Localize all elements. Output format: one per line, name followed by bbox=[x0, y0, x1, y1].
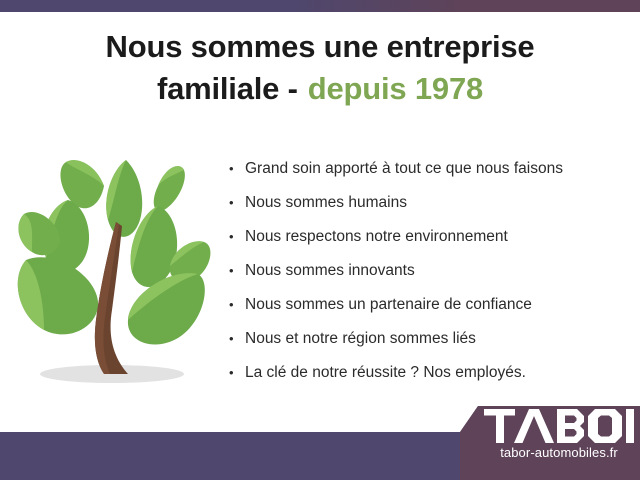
page-title-line-1: Nous sommes une entreprise bbox=[0, 26, 640, 68]
logo-website-url: tabor-automobiles.fr bbox=[484, 445, 634, 460]
list-item: Nous et notre région sommes liés bbox=[228, 322, 628, 356]
page-title-line-2-black: familiale - bbox=[157, 71, 298, 106]
top-accent-bar bbox=[0, 0, 640, 12]
logo-wordmark-tabor bbox=[484, 408, 634, 444]
list-item: La clé de notre réussite ? Nos employés. bbox=[228, 356, 628, 390]
tree-illustration bbox=[8, 148, 223, 392]
list-item: Nous respectons notre environnement bbox=[228, 220, 628, 254]
page-title-highlight: depuis 1978 bbox=[308, 71, 483, 106]
footer-left-band bbox=[0, 406, 478, 480]
page-title-line-2: familiale -depuis 1978 bbox=[0, 68, 640, 110]
page-title: Nous sommes une entreprise familiale -de… bbox=[0, 26, 640, 110]
list-item: Grand soin apporté à tout ce que nous fa… bbox=[228, 152, 628, 186]
brand-logo[interactable]: tabor-automobiles.fr bbox=[484, 408, 634, 470]
slide-canvas: Nous sommes une entreprise familiale -de… bbox=[0, 0, 640, 480]
list-item: Nous sommes innovants bbox=[228, 254, 628, 288]
list-item: Nous sommes un partenaire de confiance bbox=[228, 288, 628, 322]
values-bullet-list: Grand soin apporté à tout ce que nous fa… bbox=[228, 152, 628, 390]
list-item: Nous sommes humains bbox=[228, 186, 628, 220]
footer-banner: tabor-automobiles.fr bbox=[0, 400, 640, 480]
